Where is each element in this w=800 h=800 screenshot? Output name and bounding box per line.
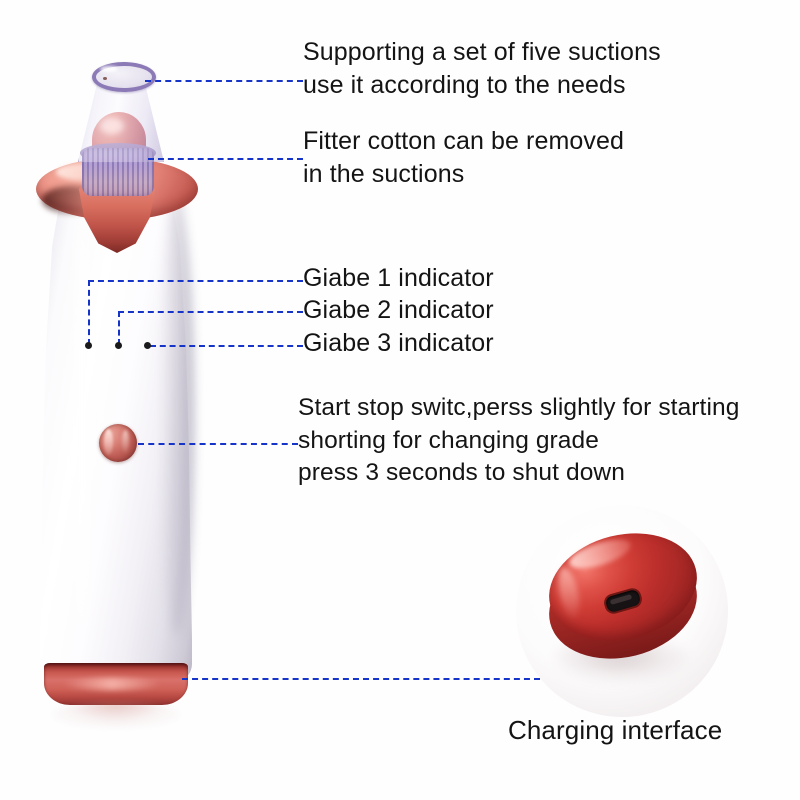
infographic-canvas: Supporting a set of five suctions use it… [0,0,800,800]
callout-text-switch: Start stop switc,perss slightly for star… [298,392,739,490]
base-gloss [62,678,162,690]
led-indicator-1 [85,342,92,349]
power-button-gloss-secondary [122,430,129,454]
body-right-shading [160,195,194,635]
callout-text-charging: Charging interface [508,713,722,747]
charging-interface-closeup [516,505,730,717]
led-indicator-3 [144,342,151,349]
tip-specular-highlight [100,66,118,72]
callout-text-gauge-3: Giabe 3 indicator [303,327,494,360]
led-indicator-2 [115,342,122,349]
power-button-gloss [104,429,113,455]
tip-speck [103,77,107,80]
base-reflection [52,702,180,728]
callout-text-gauge-2: Giabe 2 indicator [303,294,494,327]
callout-text-cotton: Fitter cotton can be removed in the suct… [303,125,624,191]
callout-text-gauge-1: Giabe 1 indicator [303,262,494,295]
product-device-image [0,0,260,760]
callout-text-suctions: Supporting a set of five suctions use it… [303,36,661,102]
